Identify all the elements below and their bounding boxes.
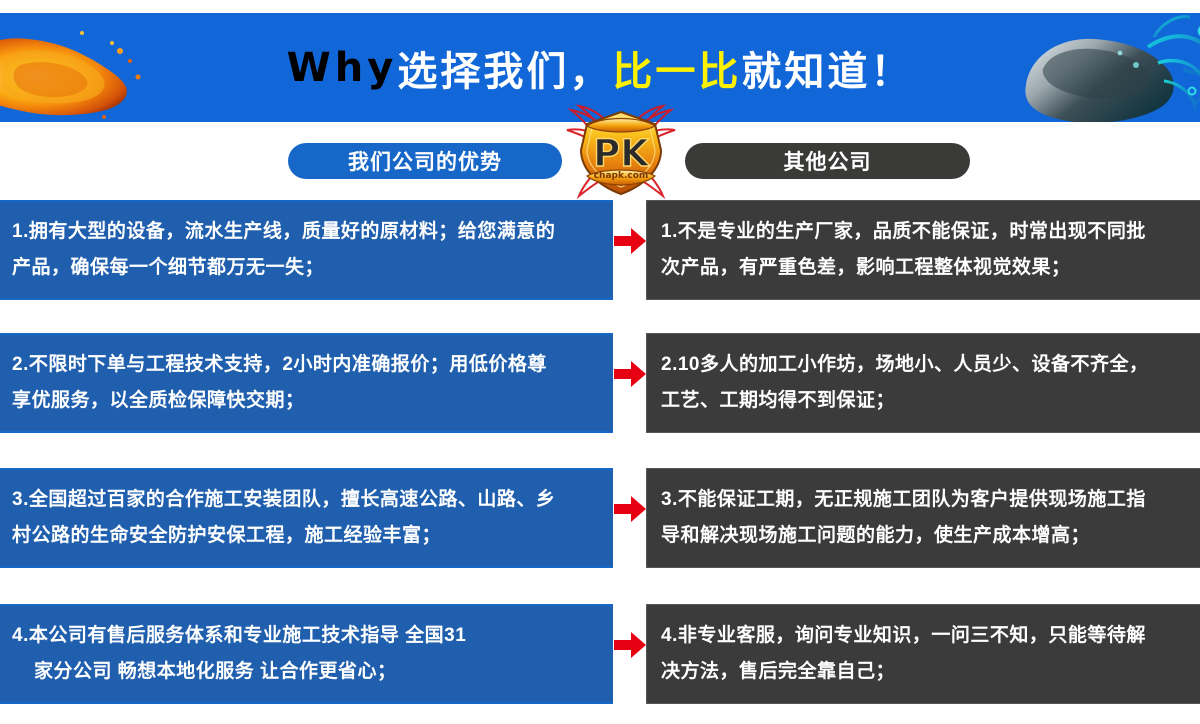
tab-our-advantages[interactable]: 我们公司的优势: [288, 143, 562, 179]
other-company-line: 4.非专业客服，询问专业知识，一问三不知，只能等待解: [661, 618, 1186, 654]
our-advantage-line: 3.全国超过百家的合作施工安装团队，擅长高速公路、山路、乡: [12, 482, 599, 518]
our-advantage-line: 家分公司 畅想本地化服务 让合作更省心；: [12, 654, 599, 690]
comparison-grid: 1.拥有大型的设备，流水生产线，质量好的原材料；给您满意的 产品，确保每一个细节…: [0, 196, 1200, 724]
our-advantage-line: 2.不限时下单与工程技术支持，2小时内准确报价；用低价格尊: [12, 347, 599, 383]
our-advantage-cell[interactable]: 4.本公司有售后服务体系和专业施工技术指导 全国31 家分公司 畅想本地化服务 …: [0, 604, 613, 704]
other-company-cell[interactable]: 4.非专业客服，询问专业知识，一问三不知，只能等待解 决方法，售后完全靠自己；: [646, 604, 1200, 704]
pk-logo-subtext: chapk.com: [594, 171, 649, 181]
our-advantage-line: 1.拥有大型的设备，流水生产线，质量好的原材料；给您满意的: [12, 214, 599, 250]
red-right-arrow-icon: [613, 630, 647, 660]
comparison-row: 4.本公司有售后服务体系和专业施工技术指导 全国31 家分公司 畅想本地化服务 …: [0, 604, 1200, 704]
our-advantage-line: 产品，确保每一个细节都万无一失；: [12, 250, 599, 286]
comparison-row: 1.拥有大型的设备，流水生产线，质量好的原材料；给您满意的 产品，确保每一个细节…: [0, 200, 1200, 300]
our-advantage-cell[interactable]: 2.不限时下单与工程技术支持，2小时内准确报价；用低价格尊 享优服务，以全质检保…: [0, 333, 613, 433]
our-advantage-line: 村公路的生命安全防护安保工程，施工经验丰富；: [12, 518, 599, 554]
other-company-line: 决方法，售后完全靠自己；: [661, 654, 1186, 690]
comparison-row: 2.不限时下单与工程技术支持，2小时内准确报价；用低价格尊 享优服务，以全质检保…: [0, 333, 1200, 433]
our-advantage-cell[interactable]: 3.全国超过百家的合作施工安装团队，擅长高速公路、山路、乡 村公路的生命安全防护…: [0, 468, 613, 568]
page-title-part2: 选择我们，: [397, 39, 612, 97]
page-title-part4: 就知道！: [741, 39, 913, 97]
page-title-why: Why: [287, 45, 398, 91]
other-company-line: 导和解决现场施工问题的能力，使生产成本增高；: [661, 518, 1186, 554]
other-company-cell[interactable]: 3.不能保证工期，无正规施工团队为客户提供现场施工指 导和解决现场施工问题的能力…: [646, 468, 1200, 568]
red-right-arrow-icon: [613, 494, 647, 524]
our-advantage-cell[interactable]: 1.拥有大型的设备，流水生产线，质量好的原材料；给您满意的 产品，确保每一个细节…: [0, 200, 613, 300]
other-company-line: 次产品，有严重色差，影响工程整体视觉效果；: [661, 250, 1186, 286]
other-company-line: 工艺、工期均得不到保证；: [661, 383, 1186, 419]
red-right-arrow-icon: [613, 226, 647, 256]
red-right-arrow-icon: [613, 359, 647, 389]
tab-other-companies-label: 其他公司: [784, 146, 872, 176]
pk-logo-icon: PK chapk.com: [557, 104, 685, 200]
tab-other-companies[interactable]: 其他公司: [685, 143, 970, 179]
other-company-line: 1.不是专业的生产厂家，品质不能保证，时常出现不同批: [661, 214, 1186, 250]
our-advantage-line: 享优服务，以全质检保障快交期；: [12, 383, 599, 419]
other-company-line: 3.不能保证工期，无正规施工团队为客户提供现场施工指: [661, 482, 1186, 518]
other-company-line: 2.10多人的加工小作坊，场地小、人员少、设备不齐全，: [661, 347, 1186, 383]
our-advantage-line: 4.本公司有售后服务体系和专业施工技术指导 全国31: [12, 618, 599, 654]
page-title-part3: 比一比: [612, 39, 741, 97]
comparison-row: 3.全国超过百家的合作施工安装团队，擅长高速公路、山路、乡 村公路的生命安全防护…: [0, 468, 1200, 568]
comparison-page: Why选择我们，比一比就知道！ 我们公司的优势 其他公司: [0, 0, 1200, 724]
other-company-cell[interactable]: 2.10多人的加工小作坊，场地小、人员少、设备不齐全， 工艺、工期均得不到保证；: [646, 333, 1200, 433]
tab-our-advantages-label: 我们公司的优势: [348, 146, 502, 176]
pk-logo-text: PK: [593, 132, 650, 175]
other-company-cell[interactable]: 1.不是专业的生产厂家，品质不能保证，时常出现不同批 次产品，有严重色差，影响工…: [646, 200, 1200, 300]
